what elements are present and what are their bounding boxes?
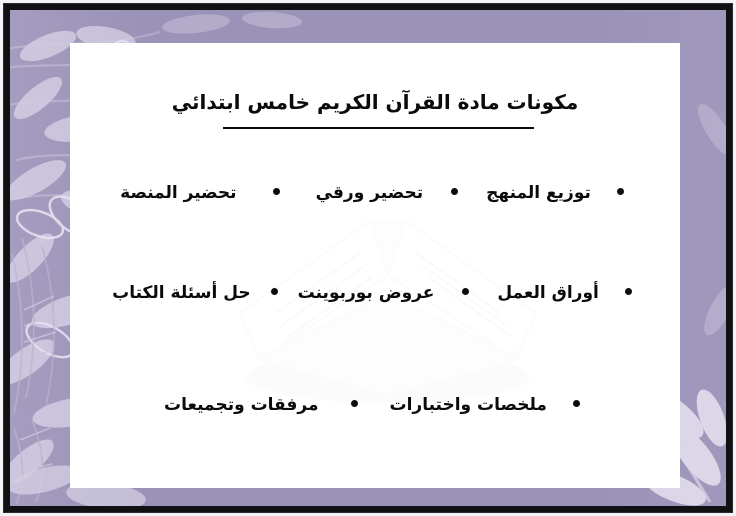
slide-purple-mat: مكونات مادة القرآن الكريم خامس ابتدائي ت… [10, 10, 726, 506]
component-item[interactable]: عروض بوربوينت [288, 283, 445, 303]
slide-content-card: مكونات مادة القرآن الكريم خامس ابتدائي ت… [70, 43, 680, 488]
bullet-icon [351, 400, 358, 407]
slide-text-content: مكونات مادة القرآن الكريم خامس ابتدائي ت… [70, 43, 680, 488]
component-item[interactable]: تحضير المنصة [110, 183, 246, 203]
bullet-icon [625, 288, 632, 295]
bullet-icon [617, 188, 624, 195]
component-item[interactable]: ملخصات واختبارات [380, 395, 557, 415]
bullet-icon [573, 400, 580, 407]
bullet-icon [273, 188, 280, 195]
component-row-2: أوراق العمل عروض بوربوينت حل أسئلة الكتا… [70, 283, 680, 303]
component-item[interactable]: تحضير ورقي [306, 183, 434, 203]
bullet-icon [462, 288, 469, 295]
slide-canvas: مكونات مادة القرآن الكريم خامس ابتدائي ت… [0, 0, 736, 516]
page-title: مكونات مادة القرآن الكريم خامس ابتدائي [70, 90, 680, 114]
title-underline [223, 127, 534, 129]
component-item[interactable]: مرفقات وتجميعات [154, 395, 328, 415]
component-item[interactable]: توزيع المنهج [476, 183, 601, 203]
component-item[interactable]: حل أسئلة الكتاب [102, 283, 261, 303]
component-row-3: ملخصات واختبارات مرفقات وتجميعات [70, 395, 680, 415]
component-row-1: توزيع المنهج تحضير ورقي تحضير المنصة [70, 183, 680, 203]
bullet-icon [451, 188, 458, 195]
bullet-icon [271, 288, 278, 295]
component-item[interactable]: أوراق العمل [487, 283, 609, 303]
